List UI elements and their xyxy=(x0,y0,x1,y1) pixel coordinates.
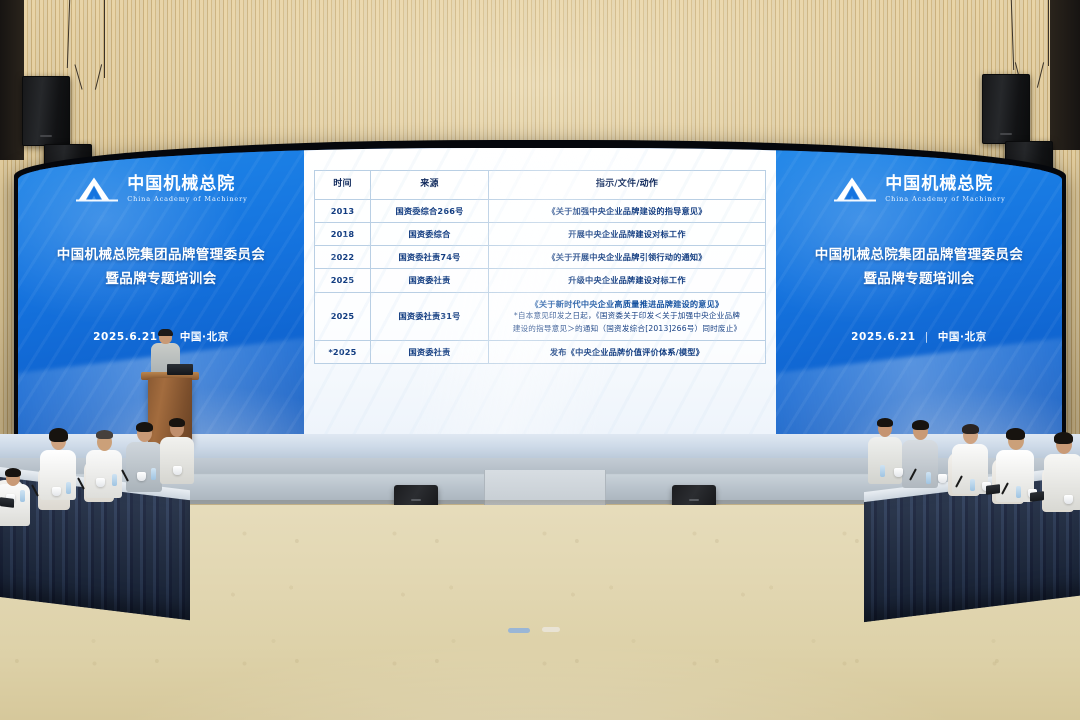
attendee-hair xyxy=(96,430,113,439)
cell-action: 发布《中央企业品牌价值评价体系/模型》 xyxy=(489,341,766,364)
logo-text-en: China Academy of Machinery xyxy=(885,196,1006,203)
teacup xyxy=(1064,495,1073,504)
policy-timeline-table: 时间 来源 指示/文件/动作 2013 国资委综合266号 《关于加强中央企业品… xyxy=(314,170,766,364)
cell-time: 2025 xyxy=(315,292,371,340)
attendee xyxy=(902,420,938,488)
logo-text-en: China Academy of Machinery xyxy=(127,196,248,203)
water-bottle xyxy=(1016,486,1021,498)
table-header-source: 来源 xyxy=(371,171,489,200)
logo-text-cn: 中国机械总院 xyxy=(127,176,248,193)
logo-text-cn: 中国机械总院 xyxy=(885,176,1006,193)
cell-time: *2025 xyxy=(315,341,371,364)
event-title: 中国机械总院集团品牌管理委员会 暨品牌专题培训会 xyxy=(34,244,288,291)
rigging-wire xyxy=(104,0,105,78)
water-bottle xyxy=(20,490,25,502)
teacup xyxy=(894,468,903,477)
table-row: 2025 国资委社责 升级中央企业品牌建设对标工作 xyxy=(315,269,766,292)
attendee-hair xyxy=(1006,428,1025,440)
water-bottle xyxy=(880,465,885,477)
cell-source: 国资委综合 xyxy=(371,222,489,245)
cell-time: 2025 xyxy=(315,269,371,292)
laptop xyxy=(1030,491,1044,502)
water-bottle xyxy=(926,472,931,484)
water-bottle xyxy=(112,474,117,486)
cell-source: 国资委社责 xyxy=(371,269,489,292)
teacup xyxy=(938,474,947,483)
event-location: 中国·北京 xyxy=(180,329,229,344)
teacup xyxy=(137,472,146,481)
table-row: *2025 国资委社责 发布《中央企业品牌价值评价体系/模型》 xyxy=(315,341,766,364)
table-header-row: 时间 来源 指示/文件/动作 xyxy=(315,171,766,200)
attendee-hair xyxy=(49,428,68,442)
table-row: 2025 国资委社责31号 《关于新时代中央企业高质量推进品牌建设的意见》 *自… xyxy=(315,292,766,340)
table-header-time: 时间 xyxy=(315,171,371,200)
attendee xyxy=(86,430,122,498)
table-row: 2022 国资委社责74号 《关于开展中央企业品牌引领行动的通知》 xyxy=(315,246,766,269)
cell-time: 2018 xyxy=(315,222,371,245)
cell-action: 《关于加强中央企业品牌建设的指导意见》 xyxy=(489,199,766,222)
attendee-hair xyxy=(1054,432,1073,444)
cell-action: 《关于开展中央企业品牌引领行动的通知》 xyxy=(489,246,766,269)
wall-right-dark-edge xyxy=(1050,0,1080,150)
event-meta: 2025.6.21 | 中国·北京 xyxy=(792,329,1046,344)
wall-left-dark-edge xyxy=(0,0,24,160)
cell-action-note-line2: 建设的指导意见＞的通知（国资发综合[2013]266号）同时废止》 xyxy=(491,323,763,336)
event-title-line2: 暨品牌专题培训会 xyxy=(792,268,1046,292)
presenter-hair xyxy=(158,329,173,336)
cell-time: 2013 xyxy=(315,199,371,222)
laptop xyxy=(986,484,1000,495)
table-row: 2013 国资委综合266号 《关于加强中央企业品牌建设的指导意见》 xyxy=(315,199,766,222)
cell-source: 国资委社责31号 xyxy=(371,292,489,340)
floor-object xyxy=(542,627,560,632)
event-title-line2: 暨品牌专题培训会 xyxy=(34,268,288,292)
teacup xyxy=(96,478,105,487)
cell-action-note-line1: *自本意见印发之日起，《国资委关于印发＜关于加强中央企业品牌 xyxy=(491,310,763,323)
cell-time: 2022 xyxy=(315,246,371,269)
teacup xyxy=(173,466,182,475)
attendee-body xyxy=(1044,454,1080,510)
meta-separator: | xyxy=(925,331,929,343)
cell-source: 国资委社责 xyxy=(371,341,489,364)
water-bottle xyxy=(66,482,71,494)
mountain-logo-icon xyxy=(74,174,120,204)
conference-room-scene: 中国机械总院 China Academy of Machinery 中国机械总院… xyxy=(0,0,1080,720)
line-array-speaker xyxy=(982,74,1030,144)
attendee-hair xyxy=(5,468,21,477)
mountain-logo-icon xyxy=(832,174,878,204)
cell-source: 国资委社责74号 xyxy=(371,246,489,269)
teacup xyxy=(52,487,61,496)
table-row: 2018 国资委综合 开展中央企业品牌建设对标工作 xyxy=(315,222,766,245)
attendee-hair xyxy=(962,424,979,434)
floor-object xyxy=(508,628,530,633)
cell-action: 开展中央企业品牌建设对标工作 xyxy=(489,222,766,245)
attendee-body xyxy=(126,442,162,492)
attendee-hair xyxy=(877,418,893,427)
attendee xyxy=(126,422,162,492)
event-title-line1: 中国机械总院集团品牌管理委员会 xyxy=(792,244,1046,268)
cell-action: 《关于新时代中央企业高质量推进品牌建设的意见》 *自本意见印发之日起，《国资委关… xyxy=(489,292,766,340)
attendee-hair xyxy=(912,420,929,430)
laptop xyxy=(0,497,14,508)
event-location: 中国·北京 xyxy=(938,329,987,344)
event-date: 2025.6.21 xyxy=(93,331,158,343)
attendee-body xyxy=(160,437,194,484)
organization-logo: 中国机械总院 China Academy of Machinery xyxy=(792,174,1046,204)
event-title: 中国机械总院集团品牌管理委员会 暨品牌专题培训会 xyxy=(792,244,1046,291)
organization-logo: 中国机械总院 China Academy of Machinery xyxy=(34,174,288,204)
event-date: 2025.6.21 xyxy=(851,331,916,343)
attendee-body xyxy=(902,440,938,488)
cell-source: 国资委综合266号 xyxy=(371,199,489,222)
cell-action: 升级中央企业品牌建设对标工作 xyxy=(489,269,766,292)
water-bottle xyxy=(970,479,975,491)
attendee-hair xyxy=(136,422,153,432)
brand-panel-right: 中国机械总院 China Academy of Machinery 中国机械总院… xyxy=(776,148,1062,436)
rigging-wire xyxy=(1048,0,1049,66)
line-array-speaker xyxy=(22,76,70,146)
event-title-line1: 中国机械总院集团品牌管理委员会 xyxy=(34,244,288,268)
attendee-hair xyxy=(169,418,185,427)
table-header-action: 指示/文件/动作 xyxy=(489,171,766,200)
cell-action-title: 《关于新时代中央企业高质量推进品牌建设的意见》 xyxy=(491,298,763,310)
water-bottle xyxy=(151,468,156,480)
lectern-laptop xyxy=(167,364,193,375)
slide-panel-center: 时间 来源 指示/文件/动作 2013 国资委综合266号 《关于加强中央企业品… xyxy=(304,148,776,436)
attendee xyxy=(1044,432,1080,510)
